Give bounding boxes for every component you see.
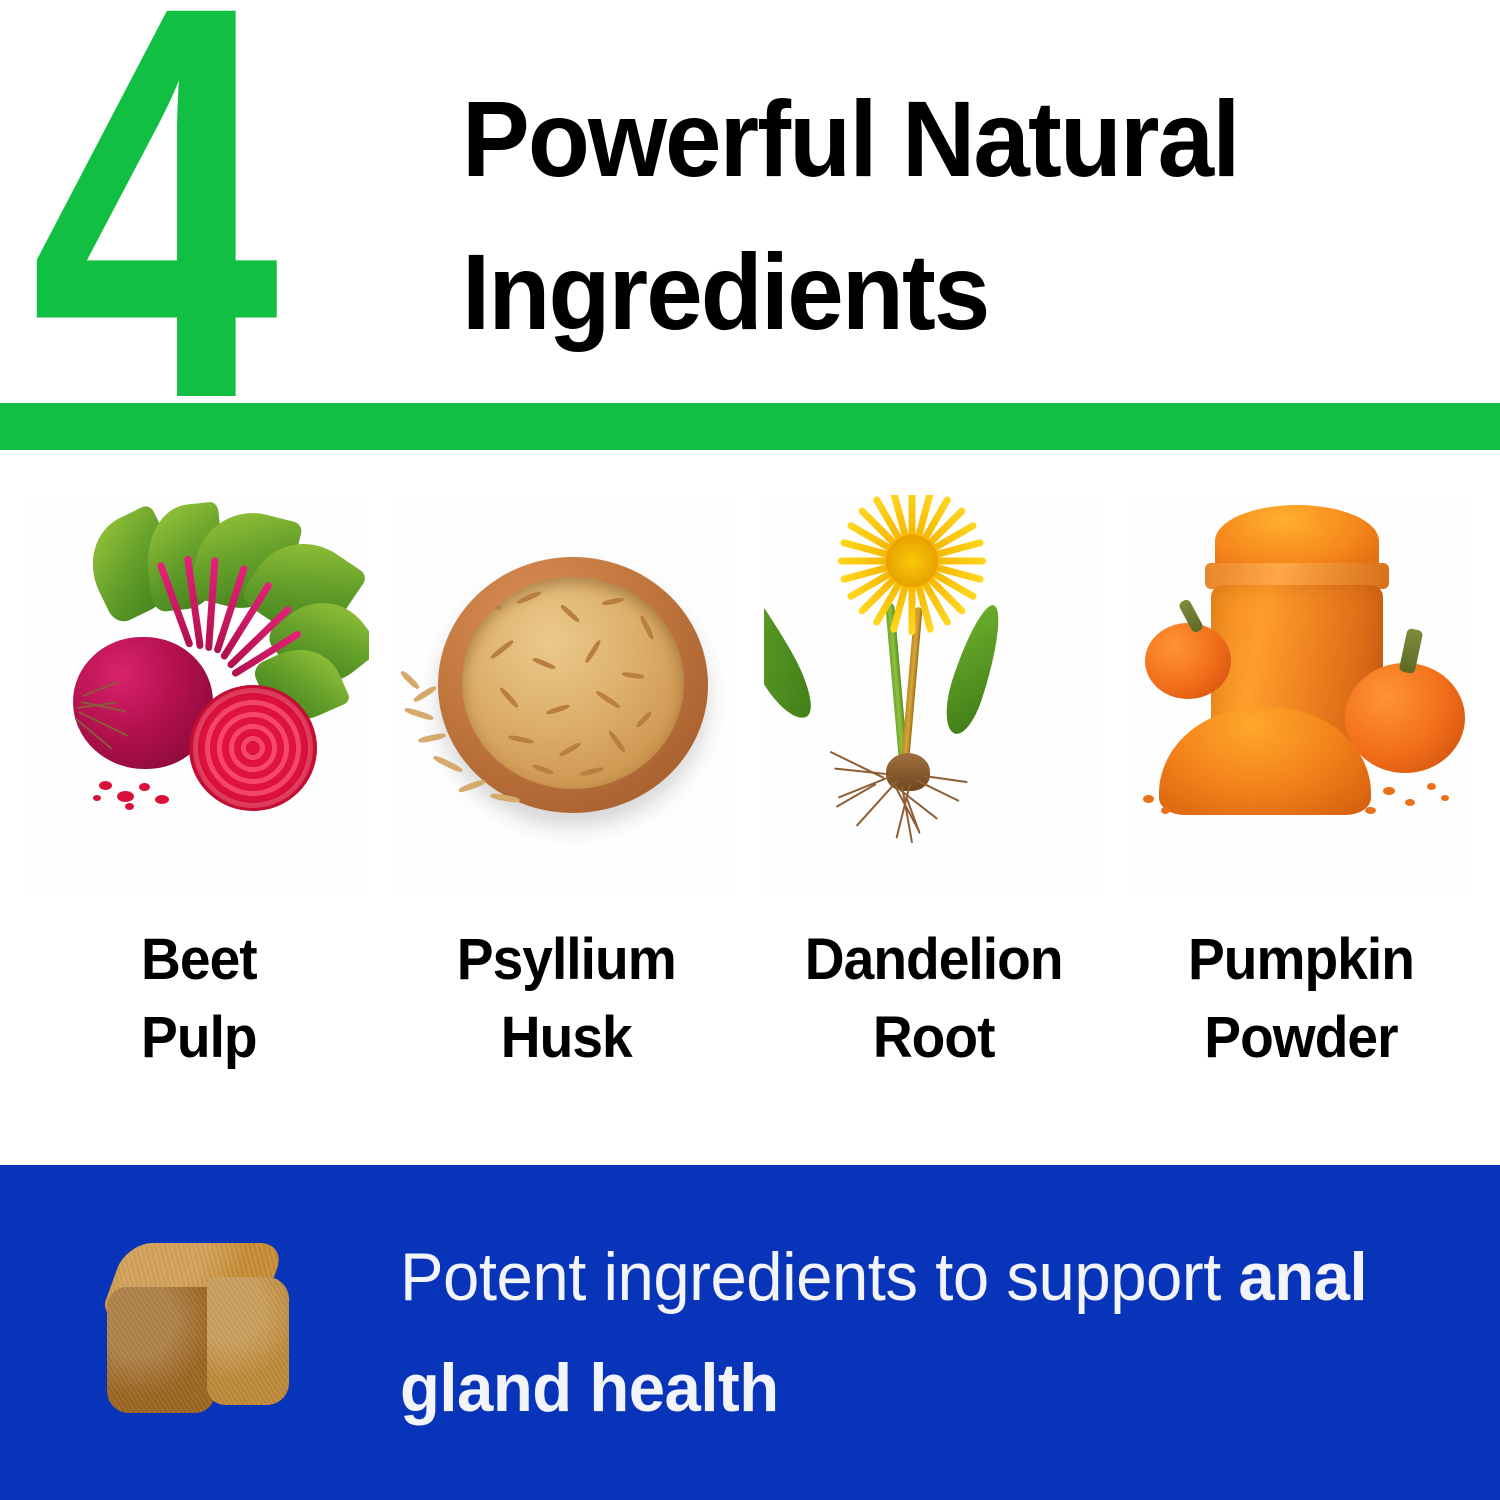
ingredient-card-pumpkin-powder: Pumpkin Powder bbox=[1124, 450, 1478, 1076]
header-section: 4 Powerful Natural Ingredients bbox=[0, 0, 1500, 450]
ingredient-label-line-1: Psyllium bbox=[457, 921, 676, 999]
ingredient-label-line-2: Husk bbox=[457, 999, 676, 1077]
ingredient-card-psyllium-husk: Psyllium Husk bbox=[389, 450, 743, 1076]
chew-right-face bbox=[207, 1277, 289, 1405]
benefit-banner: Potent ingredients to support anal gland… bbox=[0, 1165, 1500, 1500]
benefit-text-regular: Potent ingredients to support bbox=[400, 1239, 1238, 1315]
pumpkin-powder-image bbox=[1131, 495, 1471, 895]
ingredient-label-line-2: Root bbox=[805, 999, 1063, 1077]
ingredient-label-beet-pulp: Beet Pulp bbox=[141, 921, 257, 1076]
ingredient-label-line-2: Powder bbox=[1188, 999, 1414, 1077]
ingredient-count-numeral: 4 bbox=[30, 0, 271, 450]
ingredient-label-psyllium-husk: Psyllium Husk bbox=[457, 921, 676, 1076]
green-divider-bar bbox=[0, 403, 1500, 450]
ingredient-label-line-2: Pulp bbox=[141, 999, 257, 1077]
ingredient-label-dandelion-root: Dandelion Root bbox=[805, 921, 1063, 1076]
ingredient-grid: Beet Pulp bbox=[0, 450, 1500, 1165]
ingredient-label-line-1: Dandelion bbox=[805, 921, 1063, 999]
ingredient-card-dandelion-root: Dandelion Root bbox=[757, 450, 1111, 1076]
page-title: Powerful Natural Ingredients bbox=[462, 62, 1411, 369]
dandelion-root-image bbox=[764, 495, 1104, 895]
psyllium-husk-image bbox=[396, 495, 736, 895]
benefit-banner-text: Potent ingredients to support anal gland… bbox=[400, 1222, 1456, 1442]
page-title-line-2: Ingredients bbox=[462, 215, 1411, 368]
chew-left-face bbox=[107, 1287, 215, 1413]
chew-cube-shape bbox=[107, 1243, 293, 1423]
ingredient-card-beet-pulp: Beet Pulp bbox=[22, 450, 376, 1076]
page-title-line-1: Powerful Natural bbox=[462, 62, 1411, 215]
beet-pulp-image bbox=[29, 495, 369, 895]
ingredient-label-line-1: Pumpkin bbox=[1188, 921, 1414, 999]
ingredient-label-line-1: Beet bbox=[141, 921, 257, 999]
ingredient-label-pumpkin-powder: Pumpkin Powder bbox=[1188, 921, 1414, 1076]
soft-chew-cube-image bbox=[0, 1243, 400, 1423]
